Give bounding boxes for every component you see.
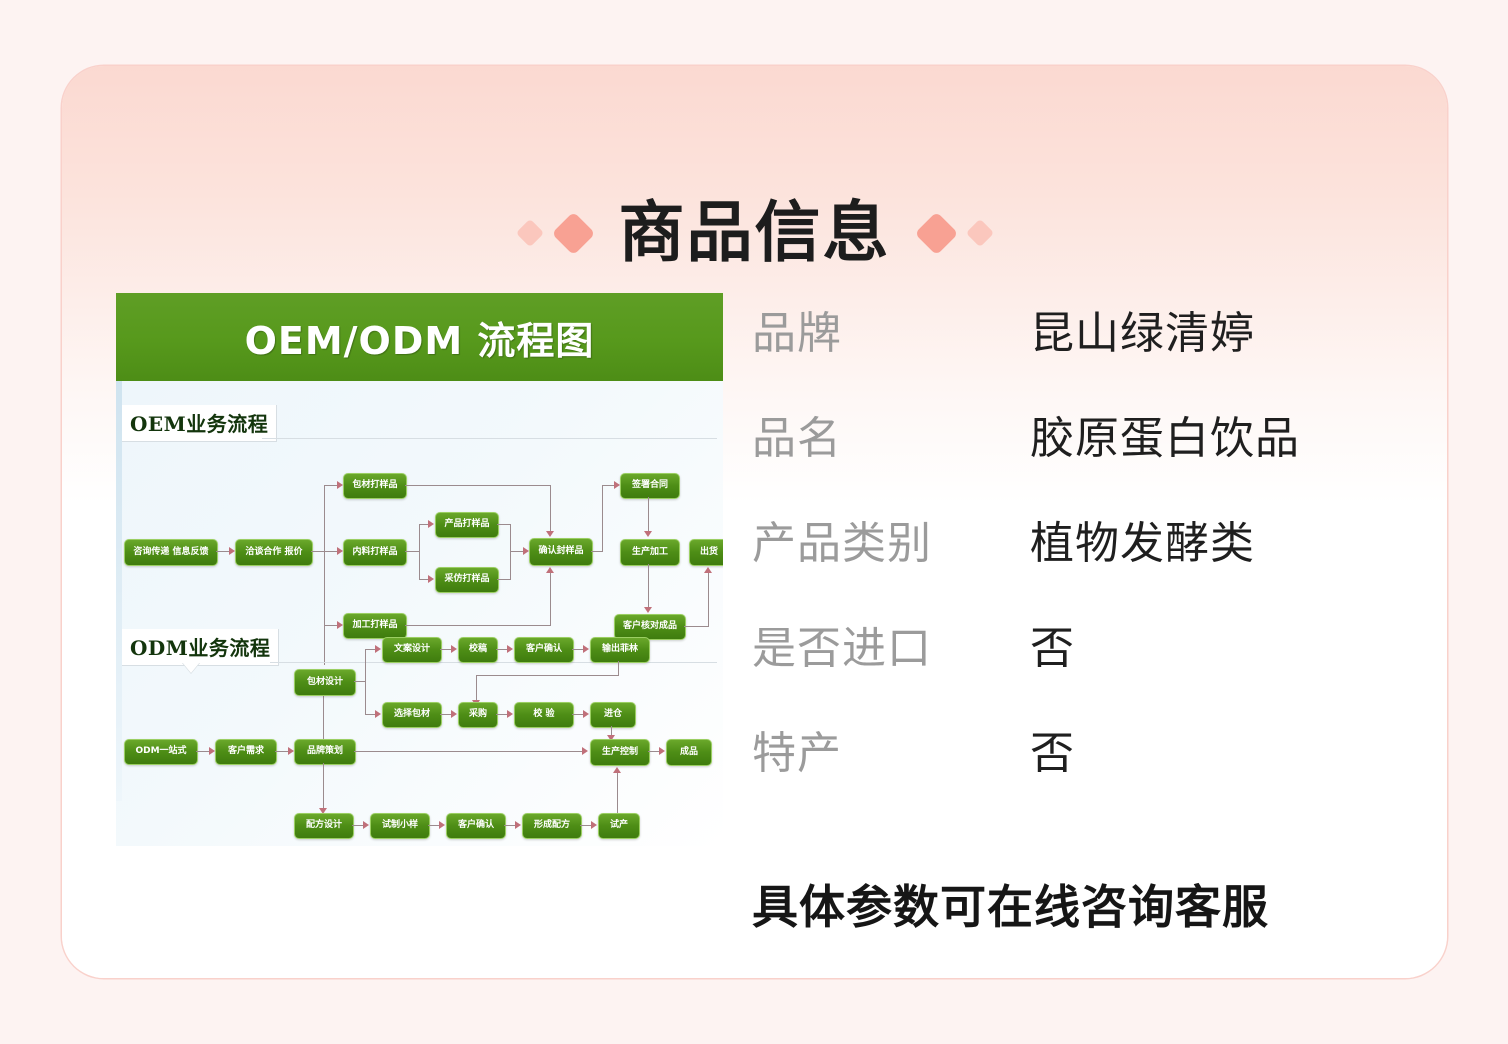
flow-node-odm-19: 试产 — [598, 813, 640, 839]
flow-node-oem-6: 产品打样品 — [435, 512, 499, 538]
oem-odm-flowchart-image: OEM/ODM 流程图 OEM业务流程 咨询传递 信息反馈 洽谈合作 报价 — [116, 293, 723, 846]
flow-node-oem-11: 出货 — [689, 539, 723, 566]
flow-node-odm-6: 校稿 — [458, 637, 498, 663]
spec-value-specialty: 否 — [1030, 717, 1075, 781]
flow-node-odm-13: 生产控制 — [590, 739, 650, 766]
spec-label-specialty: 特产 — [752, 717, 1030, 781]
flow-node-oem-1: 咨询传递 信息反馈 — [124, 539, 218, 566]
flow-node-oem-5: 加工打样品 — [343, 613, 407, 639]
flow-node-odm-12: 进仓 — [590, 702, 636, 728]
small-diamond-icon-right-2 — [965, 219, 993, 247]
spec-row-imported: 是否进口 否 — [752, 613, 1392, 675]
flow-node-odm-1: ODM一站式 — [124, 739, 198, 765]
section-tab-oem: OEM业务流程 — [122, 405, 277, 442]
product-info-page: 商品信息 OEM/ODM 流程图 OEM业务流程 咨询传递 信息反馈 — [0, 0, 1508, 1044]
large-diamond-icon-left-2 — [551, 211, 595, 255]
flow-node-oem-2: 洽谈合作 报价 — [235, 539, 313, 566]
flow-node-oem-3: 包材打样品 — [343, 473, 407, 499]
flow-node-oem-4: 内料打样品 — [343, 539, 407, 566]
section-tab-odm-label: ODM业务流程 — [122, 629, 278, 665]
spec-value-imported: 否 — [1030, 612, 1075, 676]
flow-node-odm-17: 客户确认 — [446, 813, 506, 839]
flow-node-odm-2: 客户需求 — [215, 739, 277, 765]
spec-value-category: 植物发酵类 — [1030, 507, 1255, 571]
flow-node-odm-15: 配方设计 — [294, 813, 354, 839]
spec-row-brand: 品牌 昆山绿清婷 — [752, 298, 1392, 360]
flow-node-oem-10: 生产加工 — [620, 539, 680, 566]
flow-node-odm-8: 输出菲林 — [590, 637, 650, 663]
spec-row-category: 产品类别 植物发酵类 — [752, 508, 1392, 570]
section-tab-odm: ODM业务流程 — [122, 629, 279, 666]
flow-node-odm-18: 形成配方 — [522, 813, 582, 839]
small-diamond-icon-left-1 — [515, 219, 543, 247]
flowchart-body: OEM业务流程 咨询传递 信息反馈 洽谈合作 报价 包材打样品 内料打样品 — [116, 381, 723, 846]
flowchart-banner: OEM/ODM 流程图 — [116, 293, 723, 381]
flow-node-odm-3: 品牌策划 — [294, 739, 356, 765]
flow-node-odm-5: 文案设计 — [382, 637, 442, 663]
flow-node-oem-9: 签署合同 — [620, 473, 680, 499]
flow-node-odm-9: 选择包材 — [382, 702, 442, 728]
spec-label-imported: 是否进口 — [752, 612, 1030, 676]
spec-label-brand: 品牌 — [752, 297, 1030, 361]
section-rule-oem — [262, 438, 717, 439]
spec-label-product-name: 品名 — [752, 402, 1030, 466]
flow-node-oem-8: 确认封样品 — [529, 538, 593, 566]
spec-row-specialty: 特产 否 — [752, 718, 1392, 780]
spec-value-product-name: 胶原蛋白饮品 — [1030, 402, 1300, 466]
spec-note-contact-service: 具体参数可在线咨询客服 — [752, 871, 1392, 937]
spec-value-brand: 昆山绿清婷 — [1030, 297, 1255, 361]
section-tab-odm-notch — [182, 662, 200, 673]
page-title-row: 商品信息 — [62, 188, 1447, 278]
spec-row-product-name: 品名 胶原蛋白饮品 — [752, 403, 1392, 465]
flow-node-odm-14: 成品 — [666, 739, 712, 766]
info-card: 商品信息 OEM/ODM 流程图 OEM业务流程 咨询传递 信息反馈 — [62, 66, 1447, 978]
flow-node-odm-16: 试制小样 — [370, 813, 430, 839]
flow-node-odm-7: 客户确认 — [514, 637, 574, 663]
large-diamond-icon-right-1 — [914, 211, 958, 255]
flowchart-banner-title: OEM/ODM 流程图 — [245, 310, 595, 365]
flow-node-oem-7: 采仿打样品 — [435, 567, 499, 593]
product-spec-list: 品牌 昆山绿清婷 品名 胶原蛋白饮品 产品类别 植物发酵类 是否进口 否 特产 … — [752, 298, 1392, 938]
section-tab-oem-label: OEM业务流程 — [122, 405, 276, 441]
page-title: 商品信息 — [619, 200, 891, 266]
flow-node-odm-11: 校 验 — [514, 702, 574, 728]
flow-node-odm-4: 包材设计 — [294, 669, 356, 696]
spec-label-category: 产品类别 — [752, 507, 1030, 571]
flow-node-odm-10: 采购 — [458, 702, 498, 728]
